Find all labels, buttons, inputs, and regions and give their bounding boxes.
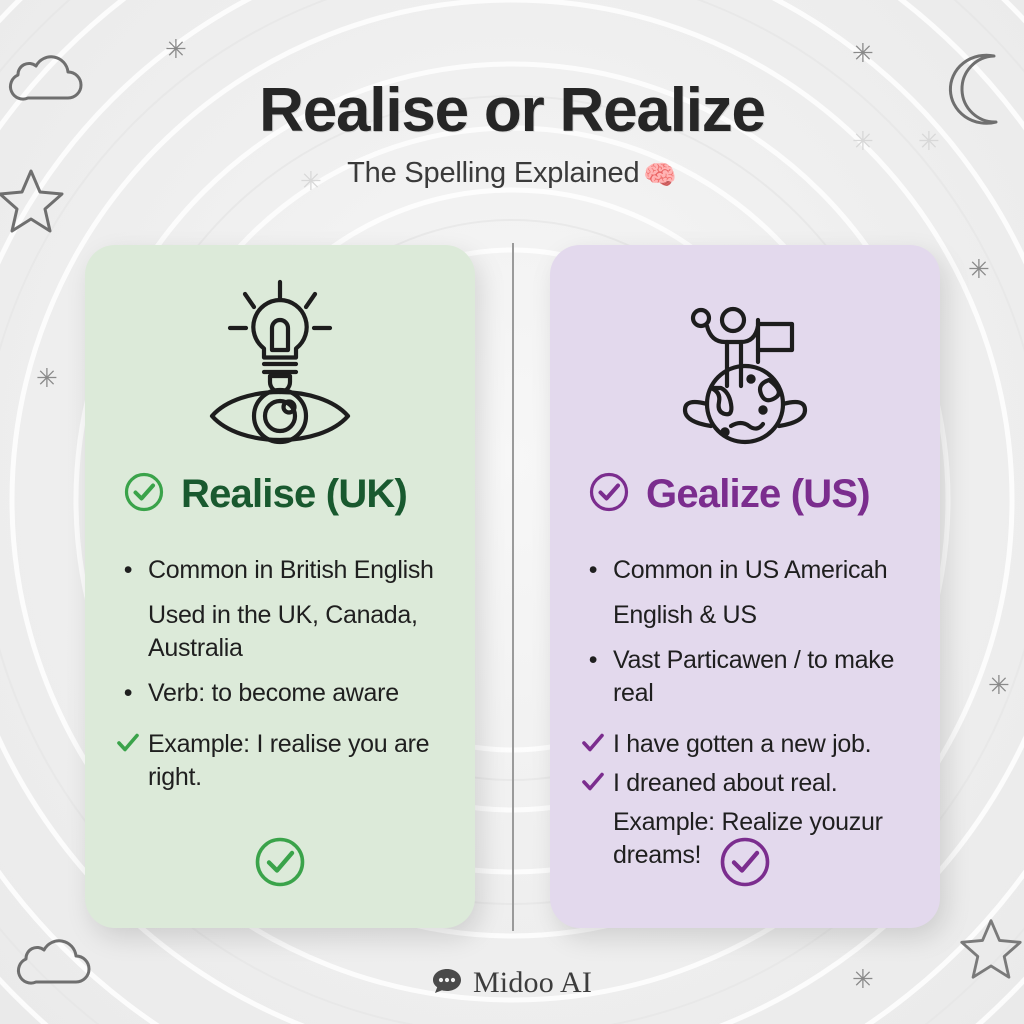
list-item-text: I dreaned about real. [613,767,918,800]
list-item-text: I have gotten a new job. [613,728,918,761]
check-circle-icon [253,835,307,894]
list-item-text: Used in the UK, Canada, Australia [148,599,453,665]
sparkle-icon: ✳ [36,365,58,391]
list-item: I have gotten a new job. [582,728,918,761]
card-footer-check-uk [85,835,475,894]
check-circle-icon [718,835,772,894]
check-mark-icon [582,728,604,753]
sparkle-icon: ✳ [988,672,1010,698]
list-item-text: Example: I realise you are right. [148,728,453,794]
card-footer-check-us [550,835,940,894]
check-mark-icon [582,767,604,792]
list-item: • Common in US Americah [582,554,918,587]
card-heading-us: Gealize (US) [572,471,918,518]
card-bullet-list-uk: • Common in British English Used in the … [107,554,453,794]
header: Realise or Realize The Spelling Explaine… [0,78,1024,191]
list-item: • Verb: to become aware [117,677,453,710]
bullet-glyph: • [582,644,604,677]
brain-icon: 🧠 [643,160,676,190]
infographic-canvas: ✳ ✳ ✳ ✳ ✳ ✳ ✳ ✳ ✳ Realise or Realize The… [0,0,1024,1024]
lightbulb-over-eye-illustration [107,245,453,465]
page-subtitle: The Spelling Explained🧠 [0,157,1024,191]
page-subtitle-text: The Spelling Explained [347,157,639,189]
list-item: Example: I realise you are right. [117,728,453,794]
footer-brand: Midoo AI [0,966,1024,1000]
page-title: Realise or Realize [0,78,1024,143]
list-item: • Vast Particawen / to make real [582,644,918,710]
bullet-glyph: • [117,677,139,710]
list-item-text: Common in British English [148,554,453,587]
list-item: I dreaned about real. [582,767,918,800]
card-realise-uk: Realise (UK) • Common in British English… [85,245,475,928]
list-item: English & US [613,599,918,632]
list-item-text: Vast Particawen / to make real [613,644,918,710]
card-divider [512,243,514,931]
sparkle-icon: ✳ [852,40,874,66]
list-item-text: Verb: to become aware [148,677,453,710]
brand-name: Midoo AI [473,966,592,1000]
card-heading-text: Realise (UK) [181,472,407,517]
card-gealize-us: Gealize (US) • Common in US Americah Eng… [550,245,940,928]
list-item: • Common in British English [117,554,453,587]
check-mark-icon [117,728,139,753]
list-item-text: English & US [613,599,918,632]
list-item: Used in the UK, Canada, Australia [148,599,453,665]
person-flag-on-planet-illustration [572,245,918,465]
check-circle-icon [588,471,630,518]
card-heading-uk: Realise (UK) [107,471,453,518]
card-heading-text: Gealize (US) [646,472,870,517]
bullet-glyph: • [582,554,604,587]
check-circle-icon [123,471,165,518]
sparkle-icon: ✳ [968,256,990,282]
bullet-glyph: • [117,554,139,587]
list-item-text: Common in US Americah [613,554,918,587]
sparkle-icon: ✳ [165,36,187,62]
card-bullet-list-us: • Common in US Americah English & US • V… [572,554,918,872]
speech-bubble-icon [432,968,462,999]
